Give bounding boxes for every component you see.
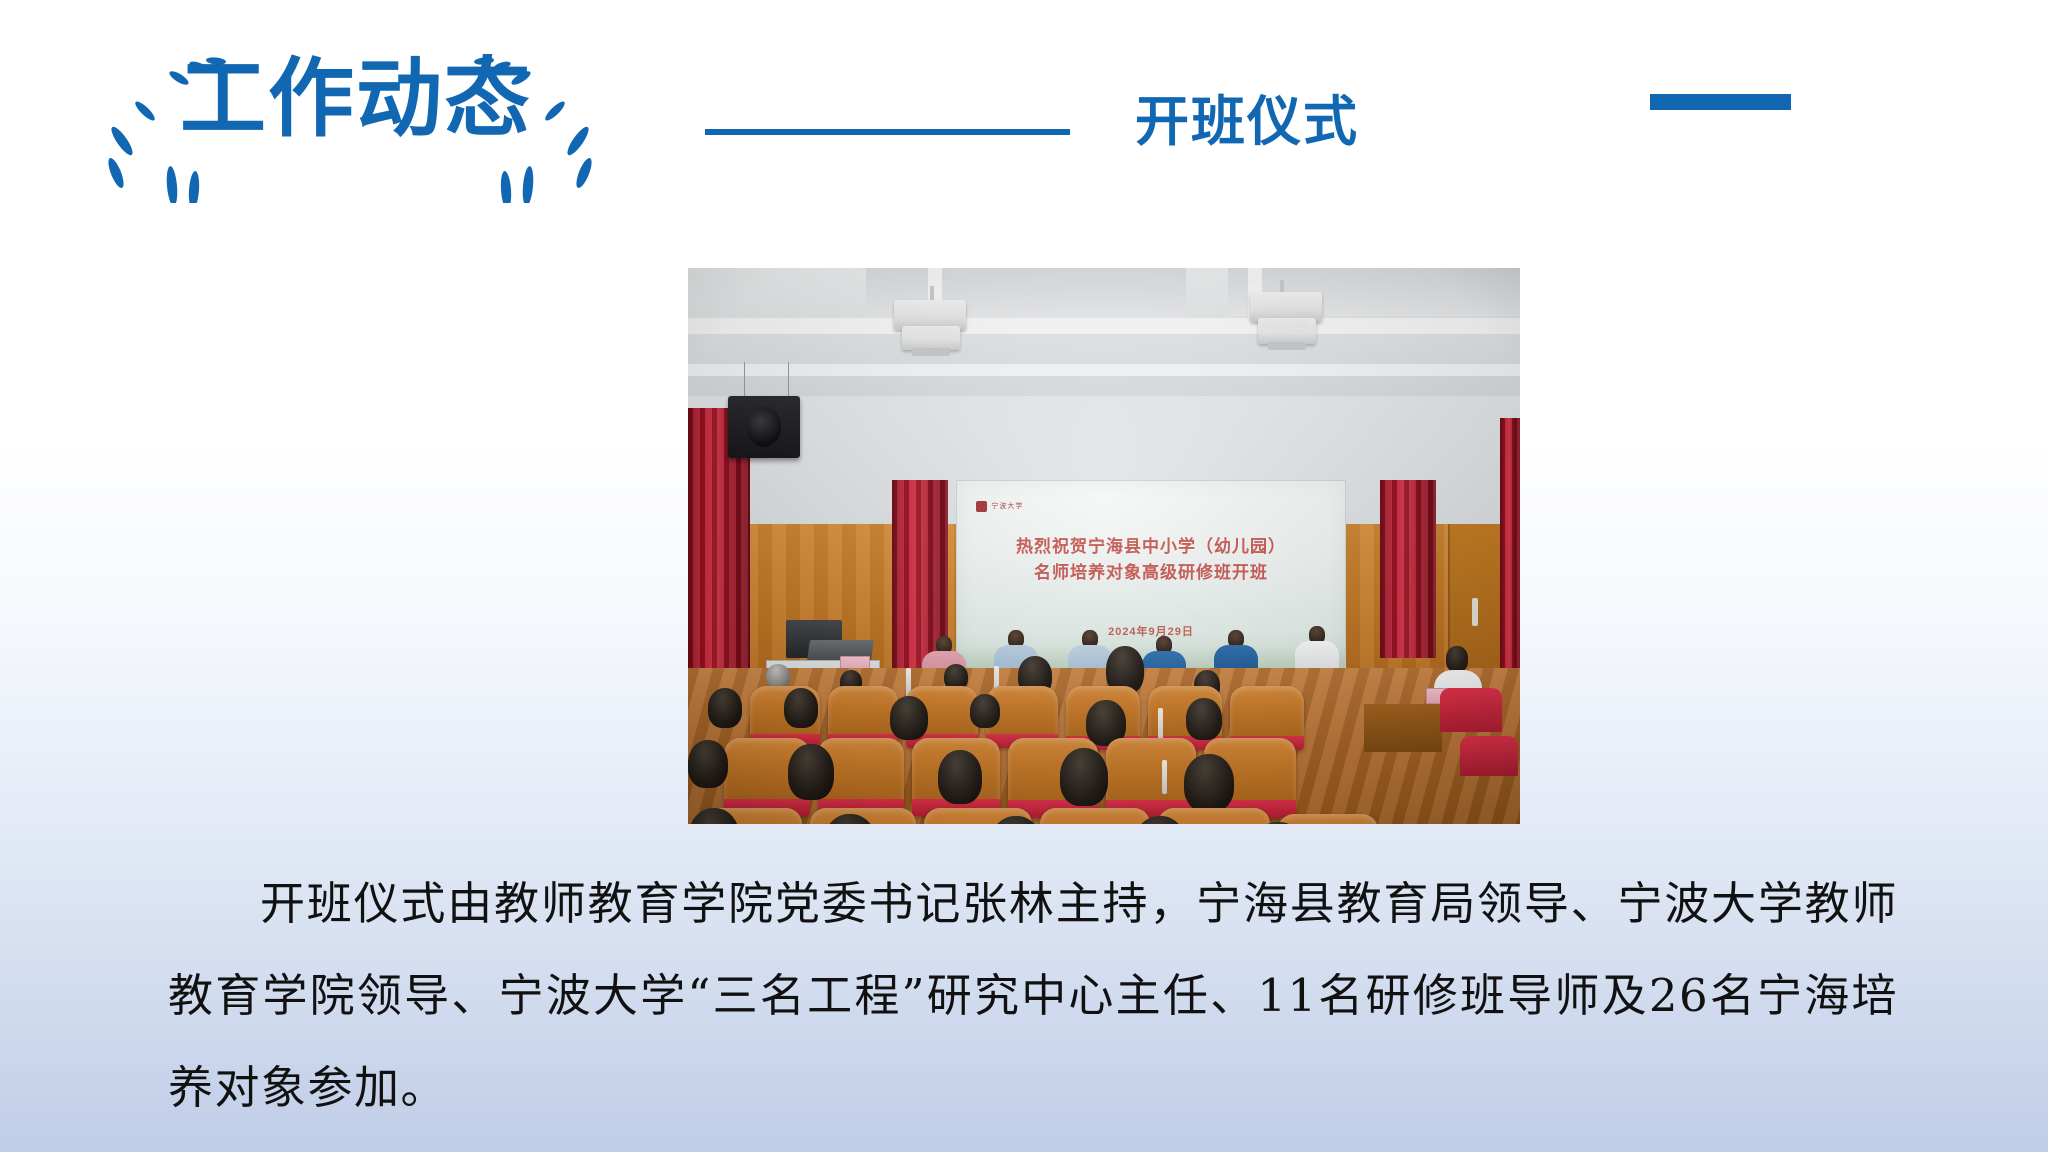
staff-head xyxy=(1446,646,1468,672)
header-divider xyxy=(705,129,1070,135)
audience-head-b1 xyxy=(708,688,742,728)
audience-head-a2 xyxy=(766,664,790,688)
seat-c5 xyxy=(1106,738,1196,818)
slide-header: 工作动态 开班仪式 xyxy=(0,0,2048,210)
audience-head-b6 xyxy=(1186,698,1222,740)
slide-root: 工作动态 开班仪式 xyxy=(0,0,2048,1152)
audience-head-b3 xyxy=(890,696,928,740)
screen-logo: 宁波大学 xyxy=(976,501,1023,512)
audience-head-d3 xyxy=(988,816,1044,824)
photo-scene: 宁波大学 热烈祝贺宁海县中小学（幼儿园） 名师培养对象高级研修班开班 2024年… xyxy=(688,268,1520,824)
audience-head-b4 xyxy=(970,694,1000,728)
speaker-wire-2 xyxy=(788,362,789,398)
section-subtitle: 开班仪式 xyxy=(1135,95,1359,149)
audience-head-d2 xyxy=(822,814,878,824)
title-block: 工作动态 xyxy=(70,18,630,203)
screen-logo-text: 宁波大学 xyxy=(991,501,1023,511)
projector-1-base xyxy=(902,326,960,350)
official-6-body xyxy=(1295,641,1339,671)
side-desk xyxy=(1364,704,1442,752)
university-logo-icon xyxy=(976,501,987,512)
screen-title-line2: 名师培养对象高级研修班开班 xyxy=(957,560,1345,586)
side-seat-2 xyxy=(1460,736,1518,776)
audience-head-b2 xyxy=(784,688,818,728)
audience-head-d4 xyxy=(1132,816,1188,824)
projector-2-base xyxy=(1258,318,1316,344)
door-handle-icon xyxy=(1472,598,1478,626)
header-accent-bar xyxy=(1650,94,1791,110)
speaker-wire-1 xyxy=(744,362,745,398)
audience-head-c4 xyxy=(1060,748,1108,806)
audience-head-c5 xyxy=(1184,754,1234,812)
side-seat xyxy=(1440,688,1502,732)
screen-title-line1: 热烈祝贺宁海县中小学（幼儿园） xyxy=(957,534,1345,560)
screen-title: 热烈祝贺宁海县中小学（幼儿园） 名师培养对象高级研修班开班 xyxy=(957,534,1345,585)
water-bottle-3 xyxy=(1158,708,1163,742)
water-bottle-4 xyxy=(1162,760,1167,794)
event-photo: 宁波大学 热烈祝贺宁海县中小学（幼儿园） 名师培养对象高级研修班开班 2024年… xyxy=(688,268,1520,824)
audience-head-d5 xyxy=(1248,822,1308,824)
audience-head-c1 xyxy=(688,740,728,788)
audience-head-c3 xyxy=(938,750,982,804)
ceiling-beam-2 xyxy=(688,364,1520,376)
ceiling-beam-1 xyxy=(688,318,1520,334)
body-paragraph: 开班仪式由教师教育学院党委书记张林主持，宁海县教育局领导、宁波大学教师教育学院领… xyxy=(168,858,1898,1134)
curtain-right-inner xyxy=(1380,480,1436,658)
ceiling-speaker-icon xyxy=(728,396,800,458)
page-title: 工作动态 xyxy=(180,56,532,142)
audience-head-d1 xyxy=(688,808,740,824)
audience-head-c2 xyxy=(788,744,834,800)
